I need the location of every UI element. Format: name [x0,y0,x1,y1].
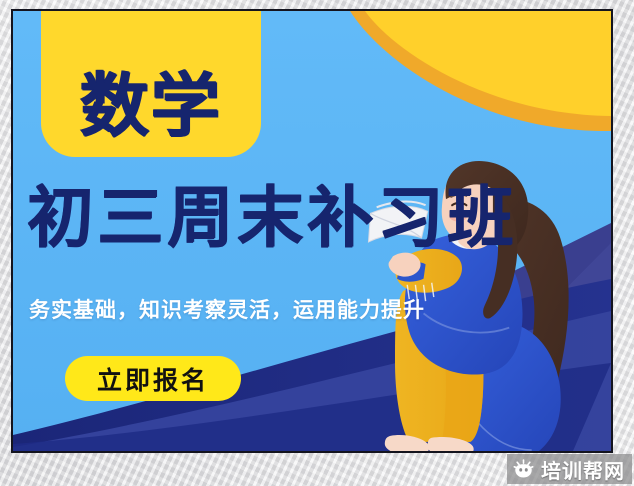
subject-badge: 数学 [41,11,261,157]
screenshot-canvas: 数学 初三周末补习班 务实基础，知识考察灵活，运用能力提升 立即报名 培训帮网 [0,0,634,486]
promo-banner: 数学 初三周末补习班 务实基础，知识考察灵活，运用能力提升 立即报名 [13,11,611,451]
subject-badge-label: 数学 [80,72,222,141]
enroll-now-button[interactable]: 立即报名 [65,356,241,401]
enroll-now-label: 立即报名 [97,361,209,397]
banner-headline: 初三周末补习班 [27,183,607,252]
banner-tagline: 务实基础，知识考察灵活，运用能力提升 [29,294,425,324]
site-watermark: 培训帮网 [507,454,632,484]
promo-banner-frame: 数学 初三周末补习班 务实基础，知识考察灵活，运用能力提升 立即报名 [11,9,613,453]
sun-face-icon [512,458,535,481]
site-watermark-text: 培训帮网 [541,455,625,484]
